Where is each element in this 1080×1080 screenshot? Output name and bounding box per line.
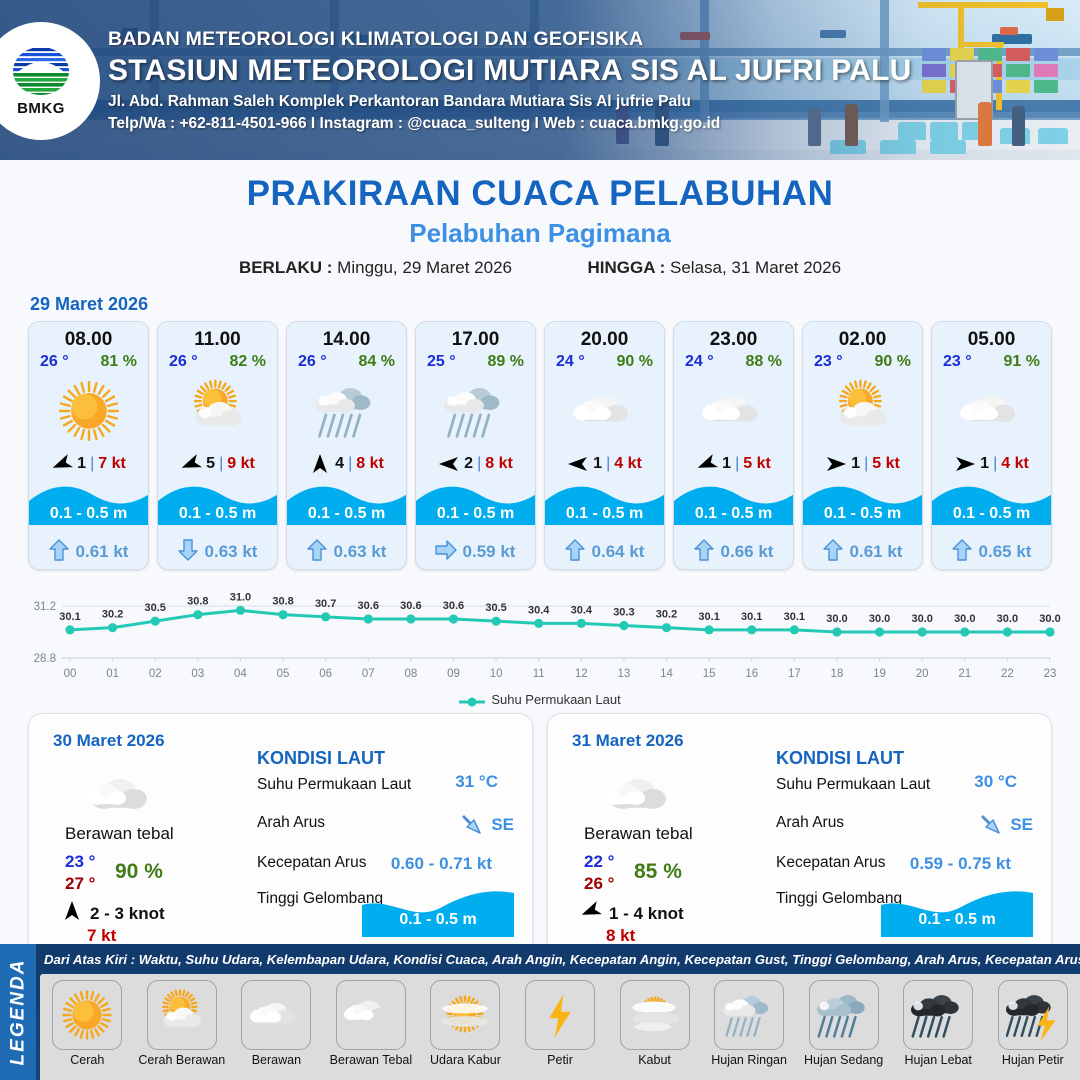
svg-text:07: 07	[362, 668, 375, 680]
card-wind: 1 | 7 kt	[29, 449, 148, 479]
svg-text:30.4: 30.4	[571, 604, 593, 616]
legend-item: Berawan	[229, 974, 324, 1080]
wave-height-value: 0.1 - 0.5 m	[416, 505, 535, 523]
hourly-card: 17.00 25 ° 89 % 2 | 8 kt	[415, 321, 536, 570]
svg-text:20: 20	[916, 668, 929, 680]
current-direction: SE	[459, 812, 514, 838]
svg-text:28.8: 28.8	[34, 653, 56, 665]
card-humidity: 90 %	[617, 353, 653, 371]
current-direction-arrow-icon	[436, 539, 456, 566]
wind-separator: |	[606, 455, 610, 473]
current-direction-arrow-icon	[823, 539, 843, 566]
card-humidity: 84 %	[359, 353, 395, 371]
current-direction-arrow-icon	[952, 539, 972, 566]
card-values: 25 ° 89 %	[416, 353, 535, 373]
svg-text:30.1: 30.1	[784, 611, 805, 623]
card-wave: 0.1 - 0.5 m	[158, 479, 277, 535]
svg-text:30.0: 30.0	[911, 613, 932, 625]
wave-height-value: 0.1 - 0.5 m	[881, 911, 1033, 929]
wave-height-value: 0.1 - 0.5 m	[362, 911, 514, 929]
card-values: 23 ° 90 %	[803, 353, 922, 373]
sst-chart-svg: 31.228.830.10030.20130.50230.80331.00430…	[18, 580, 1062, 688]
sea-conditions-title: KONDISI LAUT	[776, 748, 904, 769]
card-wind: 1 | 5 kt	[803, 449, 922, 479]
card-wind: 1 | 4 kt	[545, 449, 664, 479]
weather-hujan-petir-icon	[998, 980, 1068, 1050]
current-speed-value: 0.59 kt	[463, 542, 516, 562]
card-values: 26 ° 82 %	[158, 353, 277, 373]
current-direction: SE	[978, 812, 1033, 838]
svg-text:31.2: 31.2	[34, 601, 56, 613]
daily-wind-value: 1 - 4 knot	[609, 904, 684, 924]
current-speed-value: 0.63 kt	[205, 542, 258, 562]
card-current: 0.61 kt	[29, 535, 148, 569]
legend-side-bar: LEGENDA	[0, 944, 36, 1080]
current-speed-value: 0.64 kt	[592, 542, 645, 562]
svg-text:30.0: 30.0	[1039, 613, 1060, 625]
card-temperature: 23 °	[814, 353, 843, 371]
daily-temp-min: 23 °	[65, 852, 95, 872]
legend-item-label: Cerah Berawan	[138, 1053, 225, 1067]
svg-text:03: 03	[191, 668, 204, 680]
svg-text:08: 08	[404, 668, 417, 680]
current-speed: 0.60 - 0.71 kt	[391, 854, 492, 874]
weather-cerah-berawan-icon	[158, 373, 277, 449]
card-wind: 1 | 5 kt	[674, 449, 793, 479]
card-current: 0.66 kt	[674, 535, 793, 569]
current-direction-arrow-icon	[178, 539, 198, 566]
svg-text:30.8: 30.8	[272, 596, 293, 608]
daily-wind-value: 2 - 3 knot	[90, 904, 165, 924]
hourly-forecast-row: 08.00 26 ° 81 % 1 | 7 kt 0.1 - 0.5 m 0.6…	[0, 321, 1080, 570]
sea-row-label: Kecepatan Arus	[257, 854, 366, 872]
daily-gust: 8 kt	[606, 926, 635, 946]
weather-berawan-tebal-icon	[606, 762, 686, 816]
sea-row-label: Kecepatan Arus	[776, 854, 885, 872]
svg-text:23: 23	[1044, 668, 1057, 680]
card-temperature: 26 °	[40, 353, 69, 371]
card-time: 08.00	[29, 322, 148, 353]
svg-text:06: 06	[319, 668, 332, 680]
wind-separator: |	[348, 455, 352, 473]
gust-value: 8 kt	[356, 455, 384, 473]
weather-berawan-icon	[241, 980, 311, 1050]
weather-cerah-icon	[29, 373, 148, 449]
svg-text:31.0: 31.0	[230, 591, 251, 603]
card-wave: 0.1 - 0.5 m	[674, 479, 793, 535]
svg-text:09: 09	[447, 668, 460, 680]
current-direction-arrow-icon	[694, 539, 714, 566]
svg-text:30.6: 30.6	[400, 600, 421, 612]
wind-direction-arrow-icon	[51, 455, 73, 473]
wind-direction-arrow-icon	[580, 902, 602, 925]
weather-berawan-icon	[932, 373, 1051, 449]
daily-card: 31 Maret 2026 Berawan tebal 22 ° 26 ° 85…	[547, 713, 1052, 958]
svg-text:02: 02	[149, 668, 162, 680]
daily-wave: 0.1 - 0.5 m	[881, 889, 1033, 937]
weather-cerah-icon	[52, 980, 122, 1050]
daily-temp-max: 27 °	[65, 874, 95, 894]
svg-text:01: 01	[106, 668, 119, 680]
svg-text:11: 11	[533, 668, 545, 680]
current-direction-arrow-icon	[459, 812, 485, 838]
svg-text:12: 12	[575, 668, 588, 680]
card-wave: 0.1 - 0.5 m	[932, 479, 1051, 535]
sea-row-label: Arah Arus	[776, 814, 844, 832]
card-humidity: 90 %	[875, 353, 911, 371]
card-temperature: 23 °	[943, 353, 972, 371]
sea-row-label: Suhu Permukaan Laut	[257, 776, 411, 794]
hourly-card: 02.00 23 ° 90 % 1 | 5 kt 0.1 - 0.5 m	[802, 321, 923, 570]
current-direction-arrow-icon	[978, 812, 1004, 838]
sst-value: 30 °C	[974, 772, 1017, 792]
weather-hujan-ringan-icon	[714, 980, 784, 1050]
card-time: 23.00	[674, 322, 793, 353]
daily-condition: Berawan tebal	[584, 824, 693, 844]
wind-separator: |	[90, 455, 94, 473]
weather-hujan-ringan-icon	[287, 373, 406, 449]
valid-to-value: Selasa, 31 Maret 2026	[670, 258, 841, 277]
wind-speed-value: 1	[851, 455, 860, 473]
card-time: 20.00	[545, 322, 664, 353]
page-subtitle: Pelabuhan Pagimana	[0, 218, 1080, 249]
current-speed-value: 0.66 kt	[721, 542, 774, 562]
header-text-block: BADAN METEOROLOGI KLIMATOLOGI DAN GEOFIS…	[108, 28, 911, 133]
wind-speed-value: 1	[77, 455, 86, 473]
card-current: 0.65 kt	[932, 535, 1051, 569]
svg-text:30.5: 30.5	[145, 602, 166, 614]
wind-speed-value: 5	[206, 455, 215, 473]
gust-value: 8 kt	[485, 455, 513, 473]
card-temperature: 24 °	[685, 353, 714, 371]
svg-text:30.0: 30.0	[826, 613, 847, 625]
card-humidity: 88 %	[746, 353, 782, 371]
wind-separator: |	[864, 455, 868, 473]
chart-legend: Suhu Permukaan Laut	[0, 692, 1080, 707]
wind-direction-arrow-icon	[567, 455, 589, 473]
wind-direction-arrow-icon	[954, 455, 976, 473]
card-current: 0.64 kt	[545, 535, 664, 569]
legend-item-label: Cerah	[70, 1053, 104, 1067]
svg-text:30.0: 30.0	[997, 613, 1018, 625]
current-speed: 0.59 - 0.75 kt	[910, 854, 1011, 874]
gust-value: 5 kt	[743, 455, 771, 473]
card-wind: 4 | 8 kt	[287, 449, 406, 479]
svg-text:30.2: 30.2	[656, 609, 677, 621]
bmkg-logo-mark	[10, 46, 72, 98]
wind-speed-value: 1	[980, 455, 989, 473]
current-speed-value: 0.63 kt	[334, 542, 387, 562]
daily-gust: 7 kt	[87, 926, 116, 946]
card-time: 11.00	[158, 322, 277, 353]
wind-direction-arrow-icon	[180, 455, 202, 473]
legend-item: Hujan Lebat	[891, 974, 986, 1080]
card-wind: 5 | 9 kt	[158, 449, 277, 479]
header-banner: BMKG BADAN METEOROLOGI KLIMATOLOGI DAN G…	[0, 0, 1080, 160]
card-current: 0.61 kt	[803, 535, 922, 569]
daily-date: 31 Maret 2026	[572, 731, 684, 751]
hourly-card: 23.00 24 ° 88 % 1 | 5 kt	[673, 321, 794, 570]
wind-separator: |	[477, 455, 481, 473]
legend-item-label: Udara Kabur	[430, 1053, 501, 1067]
svg-text:15: 15	[703, 668, 716, 680]
gust-value: 7 kt	[98, 455, 126, 473]
card-values: 23 ° 91 %	[932, 353, 1051, 373]
legend-footer: LEGENDA Dari Atas Kiri : Waktu, Suhu Uda…	[0, 944, 1080, 1080]
sea-row-label: Arah Arus	[257, 814, 325, 832]
agency-name: BADAN METEOROLOGI KLIMATOLOGI DAN GEOFIS…	[108, 28, 911, 51]
valid-from-label: BERLAKU :	[239, 258, 333, 277]
legend-item-label: Kabut	[638, 1053, 671, 1067]
card-humidity: 89 %	[488, 353, 524, 371]
weather-hujan-sedang-icon	[809, 980, 879, 1050]
daily-date: 30 Maret 2026	[53, 731, 165, 751]
svg-text:05: 05	[277, 668, 290, 680]
svg-text:30.0: 30.0	[869, 613, 890, 625]
valid-from-value: Minggu, 29 Maret 2026	[337, 258, 512, 277]
weather-cerah-berawan-icon	[147, 980, 217, 1050]
bmkg-logo-text: BMKG	[17, 100, 65, 117]
svg-text:30.6: 30.6	[358, 600, 379, 612]
chart-legend-label: Suhu Permukaan Laut	[491, 692, 620, 707]
daily-card: 30 Maret 2026 Berawan tebal 23 ° 27 ° 90…	[28, 713, 533, 958]
daily-wave: 0.1 - 0.5 m	[362, 889, 514, 937]
svg-text:14: 14	[660, 668, 673, 680]
weather-berawan-icon	[674, 373, 793, 449]
weather-cerah-berawan-icon	[803, 373, 922, 449]
sst-chart: 31.228.830.10030.20130.50230.80331.00430…	[18, 580, 1062, 690]
hourly-card: 14.00 26 ° 84 % 4 | 8 kt	[286, 321, 407, 570]
card-wave: 0.1 - 0.5 m	[29, 479, 148, 535]
current-direction-arrow-icon	[565, 539, 585, 566]
svg-text:21: 21	[958, 668, 971, 680]
sst-value: 31 °C	[455, 772, 498, 792]
title-block: PRAKIRAAN CUACA PELABUHAN Pelabuhan Pagi…	[0, 174, 1080, 278]
wind-speed-value: 1	[593, 455, 602, 473]
gust-value: 5 kt	[872, 455, 900, 473]
card-temperature: 24 °	[556, 353, 585, 371]
infographic-page: BMKG BADAN METEOROLOGI KLIMATOLOGI DAN G…	[0, 0, 1080, 1080]
weather-berawan-icon	[545, 373, 664, 449]
card-humidity: 81 %	[101, 353, 137, 371]
wave-height-value: 0.1 - 0.5 m	[803, 505, 922, 523]
validity-range: BERLAKU : Minggu, 29 Maret 2026 HINGGA :…	[0, 258, 1080, 278]
station-contact: Telp/Wa : +62-811-4501-966 I Instagram :…	[108, 115, 911, 133]
legend-item-label: Berawan	[252, 1053, 301, 1067]
legend-item: Berawan Tebal	[324, 974, 419, 1080]
svg-text:30.4: 30.4	[528, 604, 550, 616]
card-time: 02.00	[803, 322, 922, 353]
legend-side-label: LEGENDA	[7, 959, 29, 1066]
weather-hujan-lebat-icon	[903, 980, 973, 1050]
card-values: 24 ° 88 %	[674, 353, 793, 373]
svg-text:16: 16	[745, 668, 758, 680]
weather-hujan-ringan-icon	[416, 373, 535, 449]
svg-text:30.7: 30.7	[315, 598, 336, 610]
card-temperature: 26 °	[169, 353, 198, 371]
svg-text:30.6: 30.6	[443, 600, 464, 612]
station-address: Jl. Abd. Rahman Saleh Komplek Perkantora…	[108, 93, 911, 111]
wave-height-value: 0.1 - 0.5 m	[29, 505, 148, 523]
svg-text:30.3: 30.3	[613, 607, 634, 619]
card-current: 0.63 kt	[287, 535, 406, 569]
wind-direction-arrow-icon	[696, 455, 718, 473]
card-wind: 1 | 4 kt	[932, 449, 1051, 479]
legend-item: Hujan Ringan	[702, 974, 797, 1080]
wave-height-value: 0.1 - 0.5 m	[545, 505, 664, 523]
chart-legend-marker	[459, 695, 485, 705]
daily-condition: Berawan tebal	[65, 824, 174, 844]
card-wave: 0.1 - 0.5 m	[416, 479, 535, 535]
card-wave: 0.1 - 0.5 m	[545, 479, 664, 535]
svg-text:30.5: 30.5	[485, 602, 506, 614]
svg-text:30.2: 30.2	[102, 609, 123, 621]
legend-item: Kabut	[607, 974, 702, 1080]
current-speed-value: 0.61 kt	[850, 542, 903, 562]
wave-height-value: 0.1 - 0.5 m	[158, 505, 277, 523]
current-direction-arrow-icon	[307, 539, 327, 566]
sea-conditions-title: KONDISI LAUT	[257, 748, 385, 769]
legend-note: Dari Atas Kiri : Waktu, Suhu Udara, Kele…	[44, 952, 1080, 967]
legend-item: Hujan Petir	[985, 974, 1080, 1080]
hourly-card: 05.00 23 ° 91 % 1 | 4 kt	[931, 321, 1052, 570]
card-values: 26 ° 81 %	[29, 353, 148, 373]
hourly-card: 11.00 26 ° 82 % 5 | 9 kt 0.1 - 0.5 m	[157, 321, 278, 570]
svg-text:30.8: 30.8	[187, 596, 208, 608]
sea-row-label: Suhu Permukaan Laut	[776, 776, 930, 794]
daily-temp-max: 26 °	[584, 874, 614, 894]
legend-item-label: Berawan Tebal	[330, 1053, 412, 1067]
legend-item-label: Hujan Petir	[1002, 1053, 1064, 1067]
valid-to-label: HINGGA :	[587, 258, 665, 277]
wind-speed-value: 2	[464, 455, 473, 473]
wind-separator: |	[219, 455, 223, 473]
card-wind: 2 | 8 kt	[416, 449, 535, 479]
card-time: 17.00	[416, 322, 535, 353]
wind-separator: |	[735, 455, 739, 473]
weather-udara-kabur-icon	[430, 980, 500, 1050]
wave-height-value: 0.1 - 0.5 m	[674, 505, 793, 523]
card-humidity: 82 %	[230, 353, 266, 371]
wind-direction-arrow-icon	[825, 455, 847, 473]
card-temperature: 26 °	[298, 353, 327, 371]
svg-text:04: 04	[234, 668, 247, 680]
weather-kabut-icon	[620, 980, 690, 1050]
legend-item: Udara Kabur	[418, 974, 513, 1080]
card-temperature: 25 °	[427, 353, 456, 371]
daily-humidity: 90 %	[115, 860, 163, 884]
wave-height-value: 0.1 - 0.5 m	[932, 505, 1051, 523]
svg-text:18: 18	[831, 668, 844, 680]
hourly-date: 29 Maret 2026	[30, 294, 1080, 315]
current-speed-value: 0.61 kt	[76, 542, 129, 562]
gust-value: 4 kt	[1001, 455, 1029, 473]
legend-item: Cerah Berawan	[135, 974, 230, 1080]
card-wave: 0.1 - 0.5 m	[803, 479, 922, 535]
page-title: PRAKIRAAN CUACA PELABUHAN	[0, 174, 1080, 214]
weather-petir-icon	[525, 980, 595, 1050]
legend-item-label: Hujan Ringan	[711, 1053, 787, 1067]
wind-direction-arrow-icon	[61, 902, 83, 925]
weather-berawan-tebal-icon	[87, 762, 167, 816]
card-humidity: 91 %	[1004, 353, 1040, 371]
legend-item: Hujan Sedang	[796, 974, 891, 1080]
hourly-card: 20.00 24 ° 90 % 1 | 4 kt	[544, 321, 665, 570]
daily-humidity: 85 %	[634, 860, 682, 884]
current-speed-value: 0.65 kt	[979, 542, 1032, 562]
daily-wind: 2 - 3 knot	[61, 902, 165, 925]
svg-text:30.1: 30.1	[698, 611, 719, 623]
legend-item-label: Hujan Sedang	[804, 1053, 883, 1067]
svg-text:13: 13	[618, 668, 631, 680]
wind-speed-value: 1	[722, 455, 731, 473]
card-current: 0.59 kt	[416, 535, 535, 569]
legend-item-label: Petir	[547, 1053, 573, 1067]
svg-text:30.0: 30.0	[954, 613, 975, 625]
gust-value: 9 kt	[227, 455, 255, 473]
svg-text:17: 17	[788, 668, 801, 680]
legend-item: Petir	[513, 974, 608, 1080]
gust-value: 4 kt	[614, 455, 642, 473]
station-name: STASIUN METEOROLOGI MUTIARA SIS AL JUFRI…	[108, 54, 911, 88]
daily-temp-min: 22 °	[584, 852, 614, 872]
card-values: 24 ° 90 %	[545, 353, 664, 373]
svg-text:19: 19	[873, 668, 886, 680]
wave-height-value: 0.1 - 0.5 m	[287, 505, 406, 523]
daily-forecast-row: 30 Maret 2026 Berawan tebal 23 ° 27 ° 90…	[0, 713, 1080, 958]
legend-item-label: Hujan Lebat	[904, 1053, 971, 1067]
hourly-card: 08.00 26 ° 81 % 1 | 7 kt 0.1 - 0.5 m 0.6…	[28, 321, 149, 570]
legend-items: Cerah Cerah Berawan Berawan	[40, 974, 1080, 1080]
svg-text:30.1: 30.1	[741, 611, 762, 623]
card-wave: 0.1 - 0.5 m	[287, 479, 406, 535]
card-values: 26 ° 84 %	[287, 353, 406, 373]
wind-direction-arrow-icon	[309, 455, 331, 473]
card-time: 05.00	[932, 322, 1051, 353]
svg-text:22: 22	[1001, 668, 1014, 680]
current-direction-arrow-icon	[49, 539, 69, 566]
wind-speed-value: 4	[335, 455, 344, 473]
card-current: 0.63 kt	[158, 535, 277, 569]
card-time: 14.00	[287, 322, 406, 353]
weather-berawan-tebal-icon	[336, 980, 406, 1050]
legend-item: Cerah	[40, 974, 135, 1080]
svg-text:10: 10	[490, 668, 503, 680]
svg-text:30.1: 30.1	[59, 611, 80, 623]
svg-text:00: 00	[64, 668, 77, 680]
wind-direction-arrow-icon	[438, 455, 460, 473]
wind-separator: |	[993, 455, 997, 473]
daily-wind: 1 - 4 knot	[580, 902, 684, 925]
